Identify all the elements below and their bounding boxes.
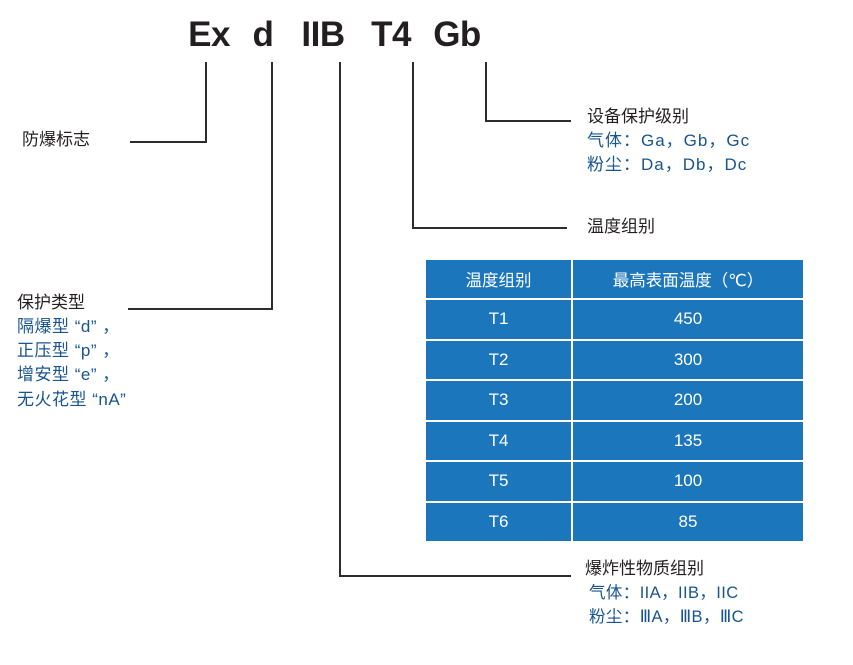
table-cell-temp: 135 [573,422,803,461]
label-explosion-proof-mark: 防爆标志 [22,128,90,152]
table-header-row: 温度组别 最高表面温度（℃） [426,260,803,298]
table-cell-temp: 85 [573,503,803,542]
label-protection-type: 保护类型 隔爆型 “d” ， 正压型 “p” ， 增安型 “e” ， 无火花型 … [17,291,126,412]
leader-line-ex-vertical [205,62,207,143]
table-cell-class: T2 [426,341,571,380]
code-token-d: d [238,17,288,52]
label-protection-type-heading: 保护类型 [17,291,126,315]
leader-line-iib-vertical [339,62,341,577]
label-explosive-substance-group: 爆炸性物质组别 气体：IIA，IIB，IIC 粉尘：ⅢA，ⅢB，ⅢC [585,557,744,629]
epl-gas-options: 气体：Ga，Gb，Gc [587,129,750,153]
protection-type-option-d: 隔爆型 “d” ， [17,315,126,339]
table-cell-temp: 450 [573,300,803,339]
code-token-t4: T4 [358,17,424,52]
code-token-iib: IIB [288,17,358,52]
leader-line-iib-horizontal [339,575,571,577]
leader-line-ex-horizontal [130,141,207,143]
table-cell-class: T1 [426,300,571,339]
table-row: T3 200 [426,381,803,420]
leader-line-d-vertical [271,62,273,310]
table-row: T2 300 [426,341,803,380]
table-row: T1 450 [426,300,803,339]
table-cell-class: T6 [426,503,571,542]
label-equipment-protection-level-heading: 设备保护级别 [587,105,750,129]
table-row: T4 135 [426,422,803,461]
table-cell-class: T5 [426,462,571,501]
epl-dust-options: 粉尘：Da，Db，Dc [587,153,750,177]
table-row: T5 100 [426,462,803,501]
table-cell-temp: 200 [573,381,803,420]
leader-line-t4-vertical [412,62,414,229]
table-cell-class: T3 [426,381,571,420]
table-cell-temp: 100 [573,462,803,501]
leader-line-gb-horizontal [485,120,571,122]
label-temperature-class: 温度组别 [587,215,655,239]
table-header-max-surface: 最高表面温度（℃） [573,260,803,298]
protection-type-option-na: 无火花型 “nA” [17,388,126,412]
table-cell-temp: 300 [573,341,803,380]
leader-line-t4-horizontal [412,227,567,229]
label-explosion-proof-mark-heading: 防爆标志 [22,128,90,152]
label-temperature-class-heading: 温度组别 [587,215,655,239]
substance-group-dust-options: 粉尘：ⅢA，ⅢB，ⅢC [589,606,744,629]
leader-line-gb-vertical [485,62,487,122]
substance-group-gas-options: 气体：IIA，IIB，IIC [589,582,744,605]
table-header-temp-class: 温度组别 [426,260,571,298]
table-cell-class: T4 [426,422,571,461]
leader-line-d-horizontal [128,308,273,310]
code-token-gb: Gb [424,17,490,52]
protection-type-option-e: 增安型 “e” ， [17,363,126,387]
marking-code: Ex d IIB T4 Gb [180,8,540,60]
temperature-class-table: 温度组别 最高表面温度（℃） T1 450 T2 300 T3 200 T4 1… [424,258,805,543]
diagram-canvas: Ex d IIB T4 Gb 防爆标志 保护类型 隔爆型 “d” ， 正压型 “… [0,0,853,665]
protection-type-option-p: 正压型 “p” ， [17,339,126,363]
label-explosive-substance-group-heading: 爆炸性物质组别 [585,557,744,581]
code-token-ex: Ex [180,17,238,52]
table-row: T6 85 [426,503,803,542]
label-equipment-protection-level: 设备保护级别 气体：Ga，Gb，Gc 粉尘：Da，Db，Dc [587,105,750,177]
